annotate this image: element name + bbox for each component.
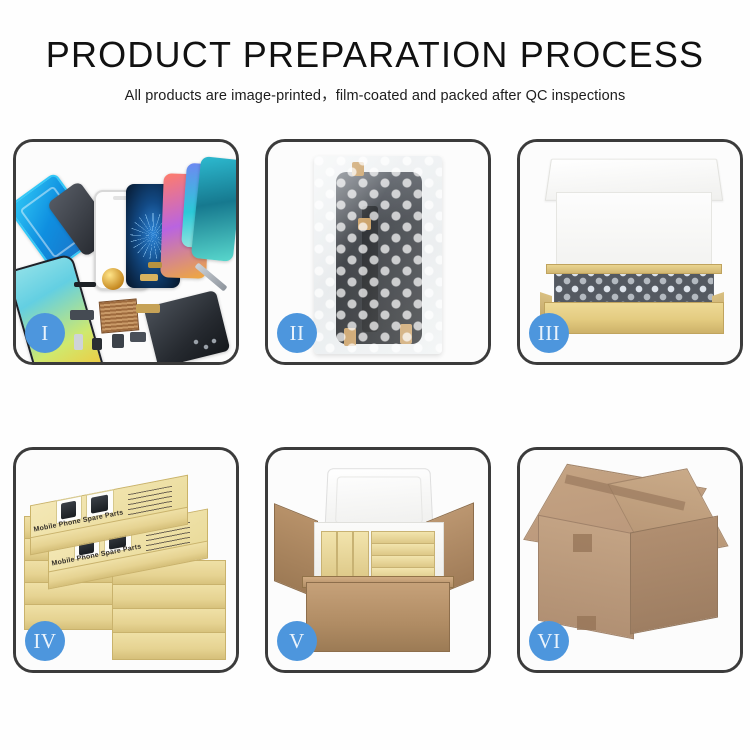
page-subtitle: All products are image-printed，film-coat… [0, 84, 750, 105]
product-preparation-process-page: PRODUCT PREPARATION PROCESS All products… [0, 0, 750, 750]
inner-yellow-box-2 [337, 531, 353, 581]
carton-tape-patch-top [573, 534, 592, 552]
gold-connector-part [140, 274, 158, 281]
step-badge-3: III [529, 313, 569, 353]
flex-cable-part [74, 282, 96, 287]
inner-yellow-box-3 [353, 531, 369, 581]
small-chip-part-c [130, 332, 146, 342]
stacked-box-front-3 [112, 608, 226, 634]
bubble-wrap-pouch [314, 156, 442, 354]
step-badge-4: IV [25, 621, 65, 661]
camera-module-part [70, 310, 94, 320]
carton-front-face [306, 582, 450, 652]
inner-yellow-box-1 [321, 531, 337, 581]
small-chip-part-b [92, 338, 102, 350]
sim-tray-part [74, 334, 83, 350]
process-step-panel-4: Mobile Phone Spare Parts Mobile Phone Sp… [13, 447, 239, 673]
page-header: PRODUCT PREPARATION PROCESS All products… [0, 34, 750, 105]
carton-right-face [630, 515, 718, 634]
white-foam-pad [556, 192, 712, 272]
stacked-box-front-2 [112, 584, 226, 610]
inner-box-rim [546, 264, 722, 274]
screws-group [192, 338, 218, 354]
process-step-panel-2: II [265, 139, 491, 365]
process-step-panel-1: I [13, 139, 239, 365]
step-badge-2: II [277, 313, 317, 353]
step-badge-5: V [277, 621, 317, 661]
plastic-sheen [314, 156, 442, 354]
process-step-panel-5: V [265, 447, 491, 673]
stacked-box-back-4 [24, 582, 118, 606]
step-badge-6: VI [529, 621, 569, 661]
page-title: PRODUCT PREPARATION PROCESS [0, 34, 750, 76]
vibration-motor-part [102, 268, 124, 290]
process-step-panel-6: VI [517, 447, 743, 673]
step-badge-1: I [25, 313, 65, 353]
small-chip-part-a [112, 334, 124, 348]
screen-thumb-1a [61, 501, 76, 520]
process-step-grid: I II [13, 139, 737, 673]
carton-tape-patch-bottom [577, 616, 596, 630]
screen-thumb-1b [91, 494, 108, 513]
stacked-box-front-4 [112, 632, 226, 660]
process-step-panel-3: III [517, 139, 743, 365]
inner-box-front [544, 302, 724, 334]
gold-flex-part [136, 304, 160, 313]
gold-contact-strip [148, 262, 162, 268]
circuit-board-part [99, 298, 140, 333]
